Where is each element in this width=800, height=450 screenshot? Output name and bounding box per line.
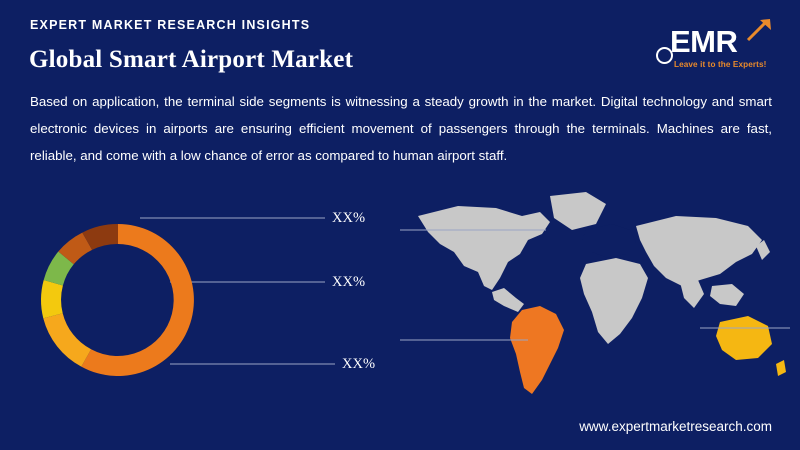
region-greenland	[550, 192, 606, 230]
region-central-america	[492, 288, 524, 312]
emr-logo: EMR Leave it to the Experts!	[656, 20, 774, 76]
region-india	[680, 280, 704, 308]
region-asia	[636, 216, 762, 286]
logo-wordmark: EMR	[670, 24, 737, 60]
donut-chart: XX% XX% XX%	[20, 192, 400, 407]
footer-url[interactable]: www.expertmarketresearch.com	[579, 419, 772, 434]
logo-ring-icon	[656, 47, 673, 64]
donut-segments	[41, 224, 194, 376]
callout-label-3: XX%	[342, 356, 375, 373]
region-southeast-asia	[710, 284, 744, 306]
donut-slice-3	[41, 280, 63, 318]
slide-root: EXPERT MARKET RESEARCH INSIGHTS EMR Leav…	[0, 0, 800, 450]
region-africa	[580, 258, 648, 344]
page-title: Global Smart Airport Market	[29, 46, 353, 74]
region-south-america	[510, 306, 564, 394]
world-map	[400, 182, 790, 412]
donut-slice-2	[43, 313, 91, 366]
region-australia	[716, 316, 772, 360]
callout-label-1: XX%	[332, 210, 365, 227]
description-text: Based on application, the terminal side …	[30, 88, 772, 169]
logo-arrow-icon	[746, 18, 772, 42]
logo-tagline: Leave it to the Experts!	[674, 60, 767, 69]
callout-label-2: XX%	[332, 274, 365, 291]
region-north-america	[418, 206, 550, 290]
kicker-text: EXPERT MARKET RESEARCH INSIGHTS	[30, 18, 310, 32]
region-new-zealand	[776, 360, 786, 376]
region-europe	[582, 224, 636, 258]
world-map-svg	[400, 182, 790, 412]
